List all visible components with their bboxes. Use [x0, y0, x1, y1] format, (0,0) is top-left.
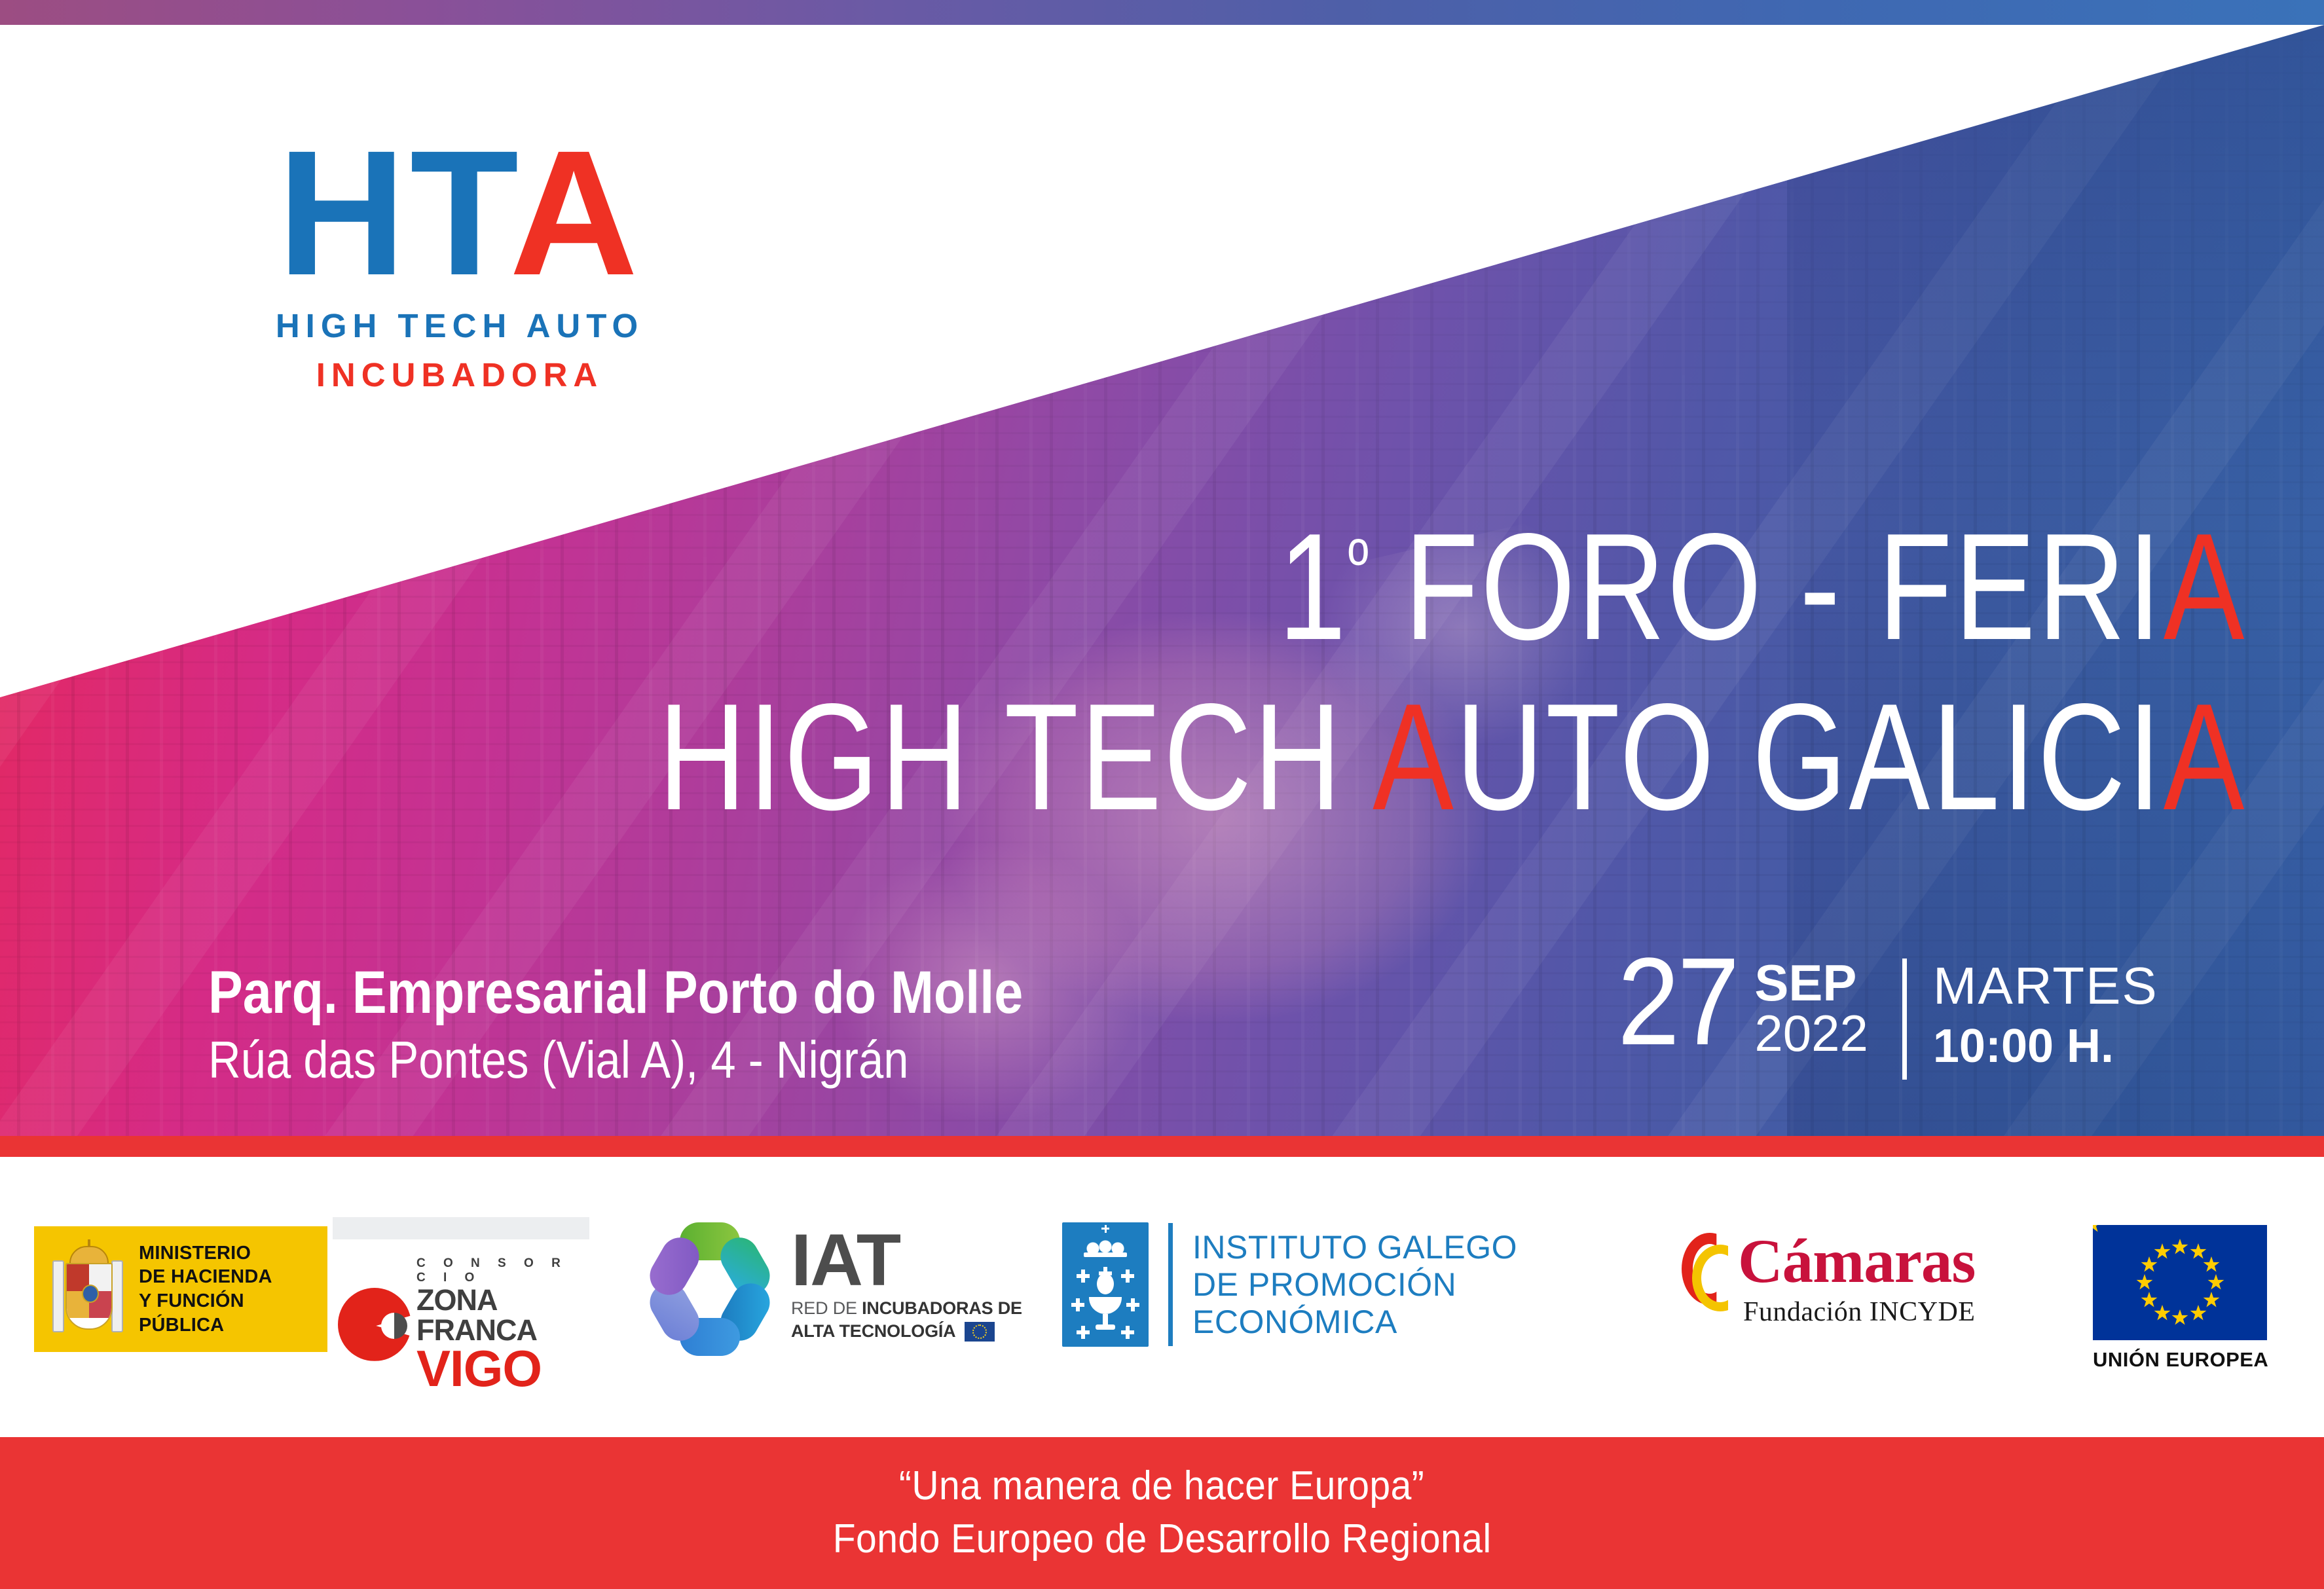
igape-line-3: ECONÓMICA	[1192, 1304, 1517, 1341]
iat-text: IAT RED DE INCUBADORAS DE ALTA TECNOLOGÍ…	[791, 1229, 1022, 1342]
headline-line-2: HIGH TECH AUTO GALICIA	[659, 682, 2247, 833]
pillar-left-icon	[52, 1260, 64, 1332]
iat-subtitle-light: RED DE	[791, 1298, 862, 1318]
spain-coat-of-arms-icon	[51, 1237, 124, 1342]
shield-icon	[65, 1263, 113, 1330]
iat-subtitle-line2-text: ALTA TECNOLOGÍA	[791, 1321, 955, 1342]
headline-ordinal-number: 1	[1279, 502, 1348, 672]
event-headline: 1º FORO - FERIA HIGH TECH AUTO GALICIA	[659, 512, 2247, 832]
zona-franca-consorcio: C O N S O R C I O	[416, 1256, 589, 1285]
ministerio-yellow-box: MINISTERIO DE HACIENDA Y FUNCIÓN PÚBLICA	[34, 1226, 327, 1352]
logo-camaras-incyde: Cámaras Fundación INCYDE	[1683, 1230, 1975, 1328]
logo-consorcio-zona-franca-vigo: C O N S O R C I O ZONA FRANCA VIGO	[333, 1217, 589, 1393]
galicia-cross-5	[1126, 1298, 1139, 1311]
zona-franca-top-band	[333, 1217, 589, 1239]
zona-franca-body: C O N S O R C I O ZONA FRANCA VIGO	[333, 1256, 589, 1393]
logo-ministerio-hacienda: MINISTERIO DE HACIENDA Y FUNCIÓN PÚBLICA	[34, 1226, 327, 1352]
igape-divider	[1168, 1223, 1173, 1346]
hta-logo-subtagline: INCUBADORA	[172, 356, 748, 394]
hta-logo-a: A	[509, 113, 642, 312]
zona-franca-name: ZONA FRANCA	[416, 1285, 589, 1345]
galicia-cross-7	[1121, 1326, 1134, 1339]
iat-subtitle-line-1: RED DE INCUBADORAS DE	[791, 1298, 1022, 1319]
headline-ordinal-mark: º	[1348, 524, 1369, 603]
headline-line2-accent-2: A	[2164, 672, 2247, 842]
logo-union-europea: UNIÓN EUROPEA	[2093, 1225, 2268, 1372]
igape-text: INSTITUTO GALEGO DE PROMOCIÓN ECONÓMICA	[1192, 1229, 1517, 1341]
iat-subtitle-line-2: ALTA TECNOLOGÍA	[791, 1321, 1022, 1342]
headline-line-1: 1º FORO - FERIA	[659, 512, 2247, 663]
ministerio-line-3: Y FUNCIÓN PÚBLICA	[139, 1289, 327, 1337]
headline-line2-mid: UTO GALICI	[1456, 672, 2164, 842]
galicia-crown-band	[1084, 1252, 1127, 1257]
date-time: 10:00 H.	[1933, 1020, 2158, 1073]
camaras-c-icon	[1682, 1233, 1738, 1305]
galicia-crown-icon	[1085, 1235, 1126, 1252]
date-month-year: SEP 2022	[1754, 959, 1868, 1059]
venue-address: Rúa das Pontes (Vial A), 4 - Nigrán	[208, 1031, 1023, 1089]
headline-line2-main: HIGH TECH	[659, 672, 1373, 842]
camaras-name-rest: ámaras	[1782, 1226, 1976, 1296]
headline-line2-accent-1: A	[1373, 672, 1456, 842]
headline-line1-accent: A	[2164, 502, 2247, 672]
galicia-cross-1	[1077, 1269, 1090, 1283]
zona-franca-mark-icon	[338, 1288, 411, 1361]
ministerio-text: MINISTERIO DE HACIENDA Y FUNCIÓN PÚBLICA	[139, 1241, 327, 1337]
footer-line-2: Fondo Europeo de Desarrollo Regional	[833, 1513, 1492, 1566]
iat-subtitle-bold: INCUBADORAS DE	[862, 1298, 1022, 1318]
logo-iat: IAT RED DE INCUBADORAS DE ALTA TECNOLOGÍ…	[647, 1221, 1022, 1349]
logo-igape: INSTITUTO GALEGO DE PROMOCIÓN ECONÓMICA	[1062, 1222, 1517, 1347]
iat-hexagon-icon	[647, 1221, 775, 1349]
sponsor-logo-strip: MINISTERIO DE HACIENDA Y FUNCIÓN PÚBLICA…	[0, 1157, 2324, 1437]
eu-flag-mini-icon	[965, 1322, 995, 1342]
hta-logo-tagline: HIGH TECH AUTO	[172, 306, 748, 345]
date-block: 27 SEP 2022 MARTES 10:00 H.	[1617, 953, 2158, 1080]
galicia-chalice-icon	[1089, 1273, 1122, 1330]
date-weekday: MARTES	[1933, 960, 2158, 1012]
top-gradient-bar	[0, 0, 2324, 25]
pillar-right-icon	[111, 1260, 123, 1332]
eu-stars-svg	[2093, 1225, 2267, 1340]
iat-name: IAT	[791, 1229, 1022, 1292]
chalice-host	[1097, 1273, 1114, 1294]
ministerio-line-1: MINISTERIO	[139, 1241, 327, 1266]
date-day: 27	[1617, 953, 1737, 1050]
shield-inescutcheon	[82, 1285, 99, 1303]
chalice-foot	[1096, 1324, 1115, 1330]
galicia-shield-icon	[1062, 1222, 1149, 1347]
igape-line-2: DE PROMOCIÓN	[1192, 1266, 1517, 1304]
date-weekday-time: MARTES 10:00 H.	[1933, 960, 2158, 1073]
hta-logo: HTA HIGH TECH AUTO INCUBADORA	[172, 128, 748, 394]
eu-stars-ring	[972, 1324, 987, 1339]
red-divider-rule	[0, 1136, 2324, 1157]
zona-franca-text: C O N S O R C I O ZONA FRANCA VIGO	[416, 1256, 589, 1393]
camaras-wrap: Cámaras Fundación INCYDE	[1683, 1230, 1975, 1328]
venue-name: Parq. Empresarial Porto do Molle	[208, 961, 1023, 1025]
venue-block: Parq. Empresarial Porto do Molle Rúa das…	[208, 961, 1023, 1089]
footer-band: “Una manera de hacer Europa” Fondo Europ…	[0, 1437, 2324, 1589]
eu-caption: UNIÓN EUROPEA	[2093, 1348, 2268, 1372]
eu-flag-icon	[2093, 1225, 2267, 1340]
zona-franca-dot	[381, 1313, 407, 1339]
date-month: SEP	[1754, 959, 1868, 1008]
galicia-cross-6	[1077, 1326, 1090, 1339]
date-divider	[1902, 959, 1907, 1080]
hta-logo-mark: HTA	[172, 128, 748, 297]
zona-franca-city: VIGO	[416, 1345, 589, 1393]
galicia-cross-4	[1071, 1298, 1084, 1311]
chalice-cup	[1089, 1297, 1122, 1314]
footer-line-1: “Una manera de hacer Europa”	[899, 1460, 1424, 1513]
ministerio-line-2: DE HACIENDA	[139, 1265, 327, 1289]
headline-line1-main: FORO - FERI	[1369, 502, 2164, 672]
galicia-cross-3	[1121, 1269, 1134, 1283]
igape-line-1: INSTITUTO GALEGO	[1192, 1229, 1517, 1266]
camaras-subtitle: Fundación INCYDE	[1743, 1296, 1975, 1328]
date-year: 2022	[1754, 1008, 1868, 1059]
camaras-initial: C	[1738, 1226, 1782, 1296]
chalice-stem	[1103, 1314, 1108, 1324]
camaras-name: Cámaras	[1738, 1230, 1975, 1292]
hta-logo-ht: HT	[278, 113, 509, 312]
